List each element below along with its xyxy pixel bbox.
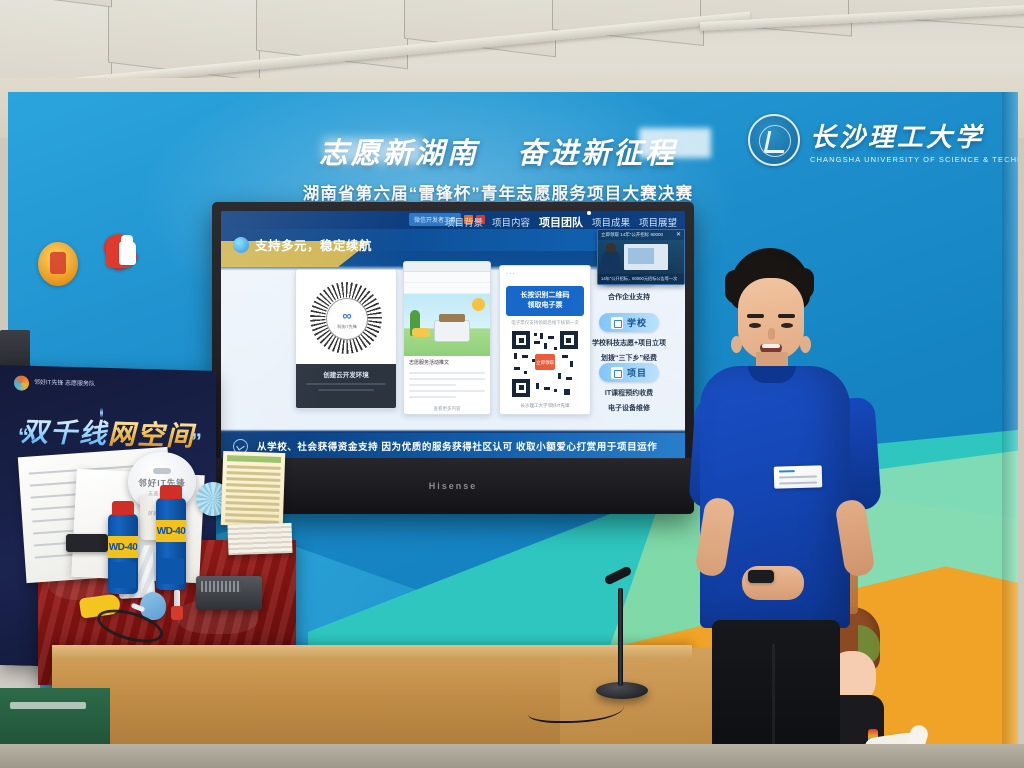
slide-nav: 项目背景 项目内容 项目团队 项目成果 项目展望 [445,214,677,230]
slide-nav-item-0[interactable]: 项目背景 [445,215,483,229]
volunteer-heart-hand-icon [106,234,150,276]
microphone-stem [618,588,623,686]
stacked-books [227,523,292,555]
eticket-claim-badge[interactable]: 立即领取 [535,354,555,370]
table-edge [52,645,692,658]
banner-subtitle: 湖南省第六届“雷锋杯”青年志愿服务项目大赛决赛 [288,180,708,204]
close-icon[interactable]: ✕ [676,231,681,238]
lei-feng-emblem-icon [38,242,78,286]
university-seal-icon [748,114,800,166]
presenter-name-badge [774,465,823,488]
info-pill-school: 学校 [627,316,647,329]
slide-nav-item-1[interactable]: 项目内容 [492,215,530,229]
slide-nav-item-2[interactable]: 项目团队 [539,214,583,230]
wd40-brand-large: WD-40 [157,526,186,537]
slide-nav-item-4[interactable]: 项目展望 [639,215,677,229]
wd40-can-large: WD-40 [156,498,186,590]
poster-org-logo: 邻好IT先锋 志愿服务队 [14,375,95,392]
card-left-caption-block: 创建云开发环境 [296,364,396,408]
university-name-en: CHANGSHA UNIVERSITY OF SCIENCE & TECHNOL… [810,155,1018,164]
slide-title-icon [233,237,249,253]
project-icon [611,367,623,379]
video-popup-footer: 14年“公开招标，80000元招标公告等一次 [601,276,677,282]
eticket-header-line2: 领取电子票 [508,301,582,311]
screenshot-scene: 志愿新湖南 奋进新征程 湖南省第六届“雷锋杯”青年志愿服务项目大赛决赛 长沙理工… [0,0,1024,768]
info-pill-project: 项目 [627,366,647,379]
video-popup-title: 立即领取 14年“公开招标 80000 [601,232,663,238]
slide-title-block: 支持多元，稳定续航 [233,235,372,254]
wd40-brand-small: WD-40 [109,542,138,553]
slide-card-miniprogram: ∞ 科技IT先锋 创建云开发环境 [295,269,397,409]
promotional-flyer [221,451,286,527]
screwdriver-tool [174,590,180,618]
display-brand-label: Hisense [429,481,478,491]
article-illustration [404,294,490,356]
presentation-clicker [748,570,774,583]
presentation-slide: 微信开发者工具 项目背景 项目内容 项目团队 项目成果 项目展望 支持多元，稳定… [221,211,685,459]
eticket-header-line1: 长按识别二维码 [508,291,582,301]
info-text-project-1: IT课程预约收费 [573,388,685,400]
info-block-project: 项目 IT课程预约收费 电子设备维修 [573,363,685,415]
qr-center-label: 科技IT先锋 [337,324,357,330]
slide-bottom-text: 从学校、社会获得资金支持 因为优质的服务获得社区认可 收取小额爱心打赏用于项目运… [257,439,657,453]
slide-bottom-bar: 从学校、社会获得资金支持 因为优质的服务获得社区认可 收取小额爱心打赏用于项目运… [221,433,685,459]
display-screen: 微信开发者工具 项目背景 项目内容 项目团队 项目成果 项目展望 支持多元，稳定… [221,211,685,459]
electronic-device [196,576,262,610]
info-text-project-2: 电子设备维修 [573,403,685,415]
university-name-cn: 长沙理工大学 [810,117,1018,154]
poster-title-part1: 双千线 [21,417,108,449]
eticket-qr-icon: 立即领取 [510,329,580,399]
banner-glare-right [323,138,423,164]
miniprogram-qr-icon: ∞ 科技IT先锋 [304,276,388,360]
presenter-face [738,278,804,360]
poster-logo-icon [14,375,29,390]
wd40-can-small: WD-40 [108,514,138,594]
poster-title-part2: 网空间 [108,419,195,451]
poster-org-text: 邻好IT先锋 志愿服务队 [34,379,95,389]
black-device-box [66,534,108,552]
floor [0,744,1024,768]
banner-glare-left [639,128,711,158]
slide-card-article: 志愿服务活动推文 查看更多内容 [403,261,491,415]
info-text-school-1: 学校科技志愿+项目立项 [573,338,685,350]
school-icon [611,317,623,329]
card-mid-caption: 志愿服务活动推文 [409,360,485,368]
presenter-person [694,248,874,768]
info-text-team: 合作企业支持 [573,292,685,304]
video-popup-overlay[interactable]: 立即领取 14年“公开招标 80000 ✕ 14年“公开招标，80000元招标公… [597,229,685,285]
card-left-caption: 创建云开发环境 [296,369,396,379]
university-logo-block: 长沙理工大学 CHANGSHA UNIVERSITY OF SCIENCE & … [748,114,1018,166]
slide-nav-item-3[interactable]: 项目成果 [592,215,630,229]
card-mid-footer: 查看更多内容 [404,406,490,412]
info-block-school: 学校 学校科技志愿+项目立项 划拨“三下乡”经费 [573,313,685,365]
slide-title: 支持多元，稳定续航 [255,235,372,254]
